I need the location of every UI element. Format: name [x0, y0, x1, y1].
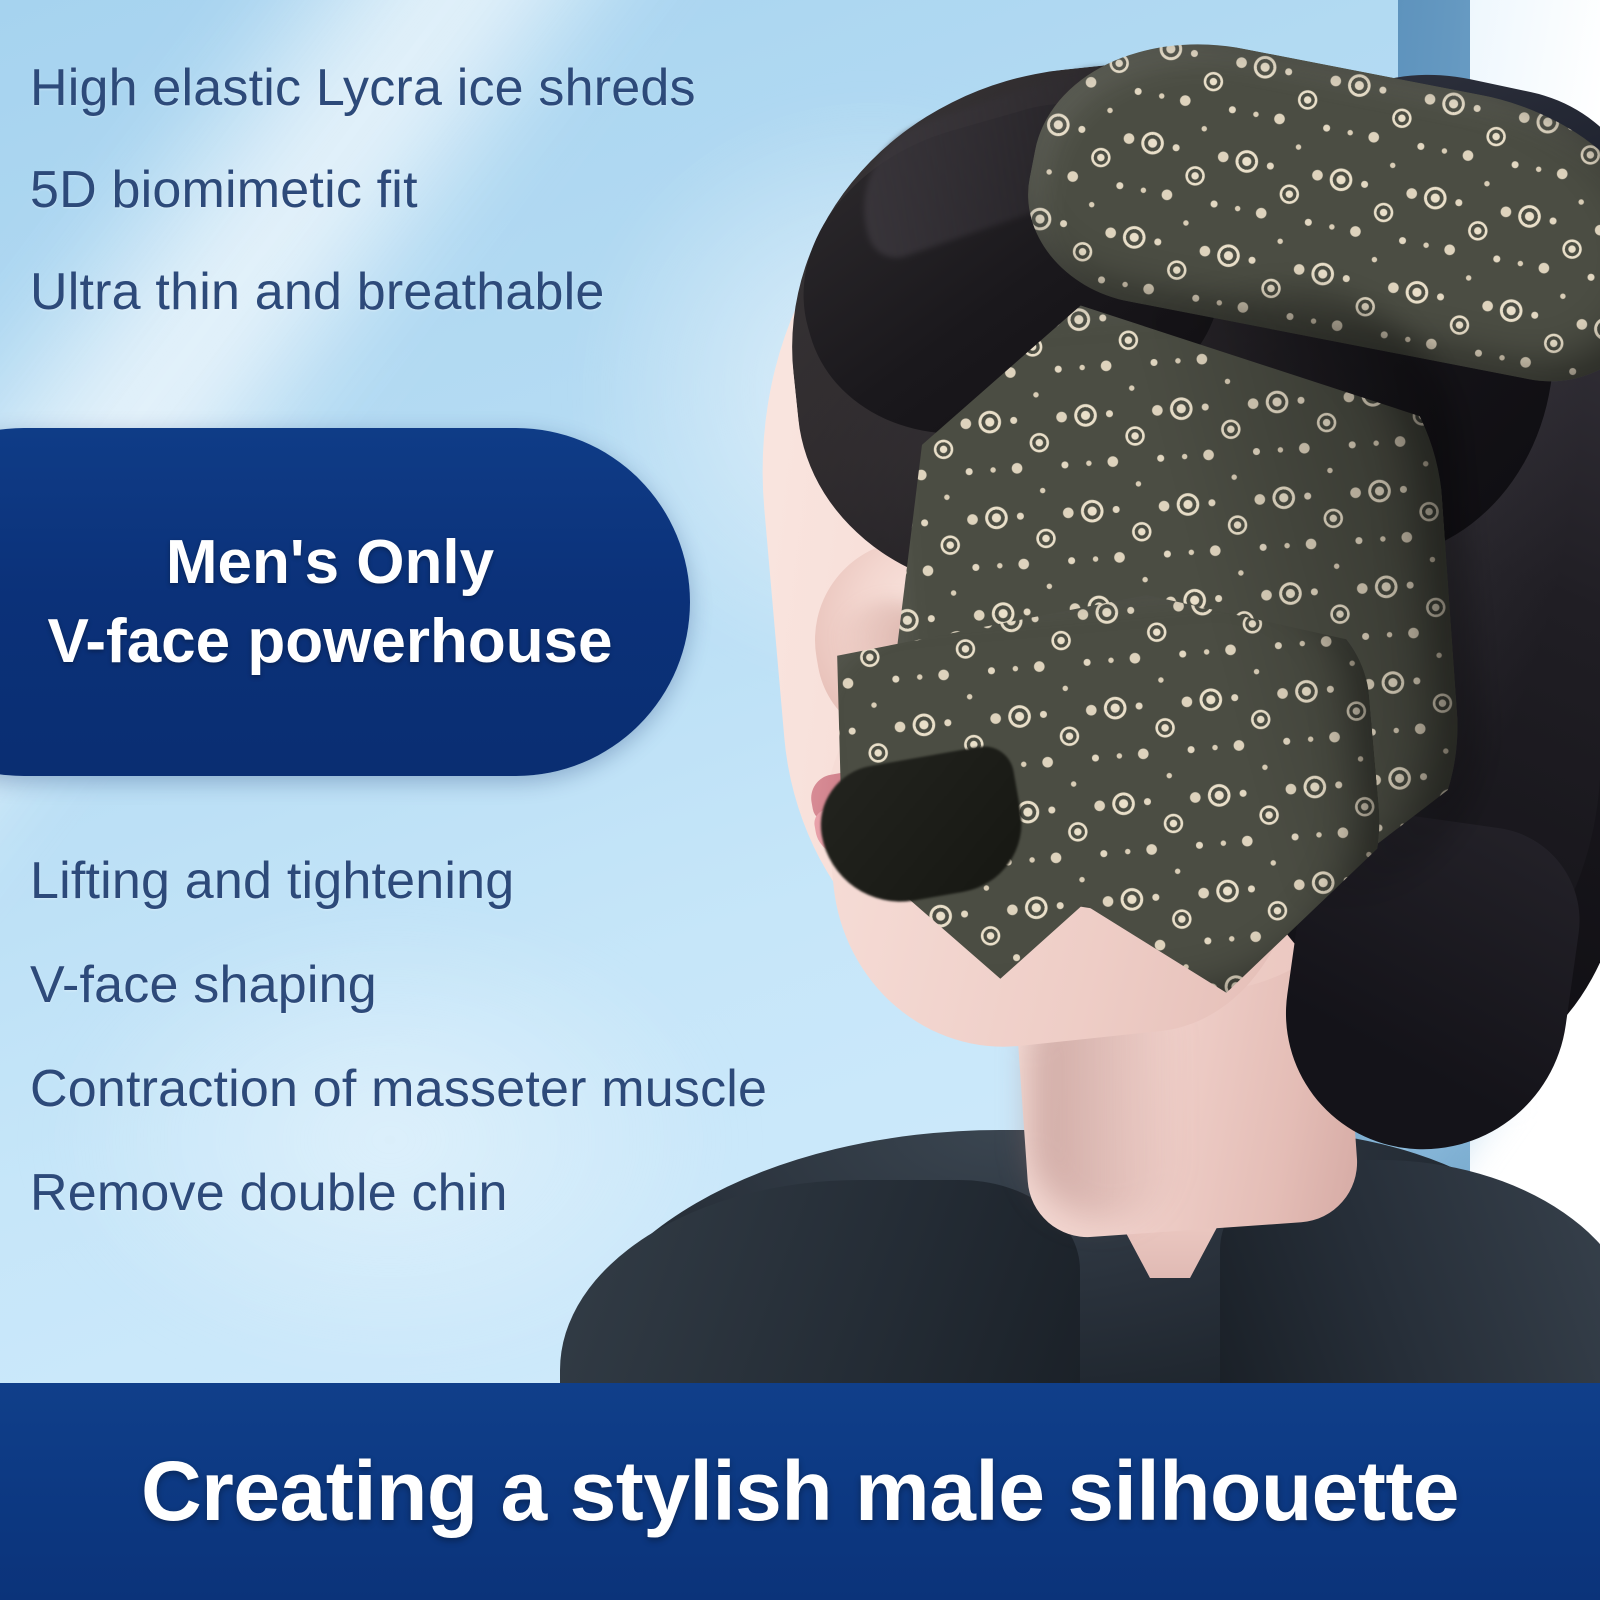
feature-item-double-chin: Remove double chin [30, 1167, 930, 1219]
bottom-banner: Creating a stylish male silhouette [0, 1383, 1600, 1600]
feature-item-lifting: Lifting and tightening [30, 855, 930, 907]
feature-item-lycra: High elastic Lycra ice shreds [30, 62, 790, 114]
highlight-badge-line-2: V-face powerhouse [47, 602, 612, 681]
highlight-badge-line-1: Men's Only [47, 523, 612, 602]
feature-item-breathable: Ultra thin and breathable [30, 266, 790, 318]
advertisement-poster: High elastic Lycra ice shreds 5D biomime… [0, 0, 1600, 1600]
highlight-badge: Men's Only V-face powerhouse [0, 428, 690, 776]
feature-list-top: High elastic Lycra ice shreds 5D biomime… [30, 62, 790, 368]
feature-item-vface-shaping: V-face shaping [30, 959, 930, 1011]
bottom-banner-headline: Creating a stylish male silhouette [141, 1443, 1459, 1540]
highlight-badge-text: Men's Only V-face powerhouse [47, 523, 612, 682]
feature-list-bottom: Lifting and tightening V-face shaping Co… [30, 855, 930, 1271]
feature-item-biomimetic: 5D biomimetic fit [30, 164, 790, 216]
feature-item-masseter: Contraction of masseter muscle [30, 1063, 930, 1115]
